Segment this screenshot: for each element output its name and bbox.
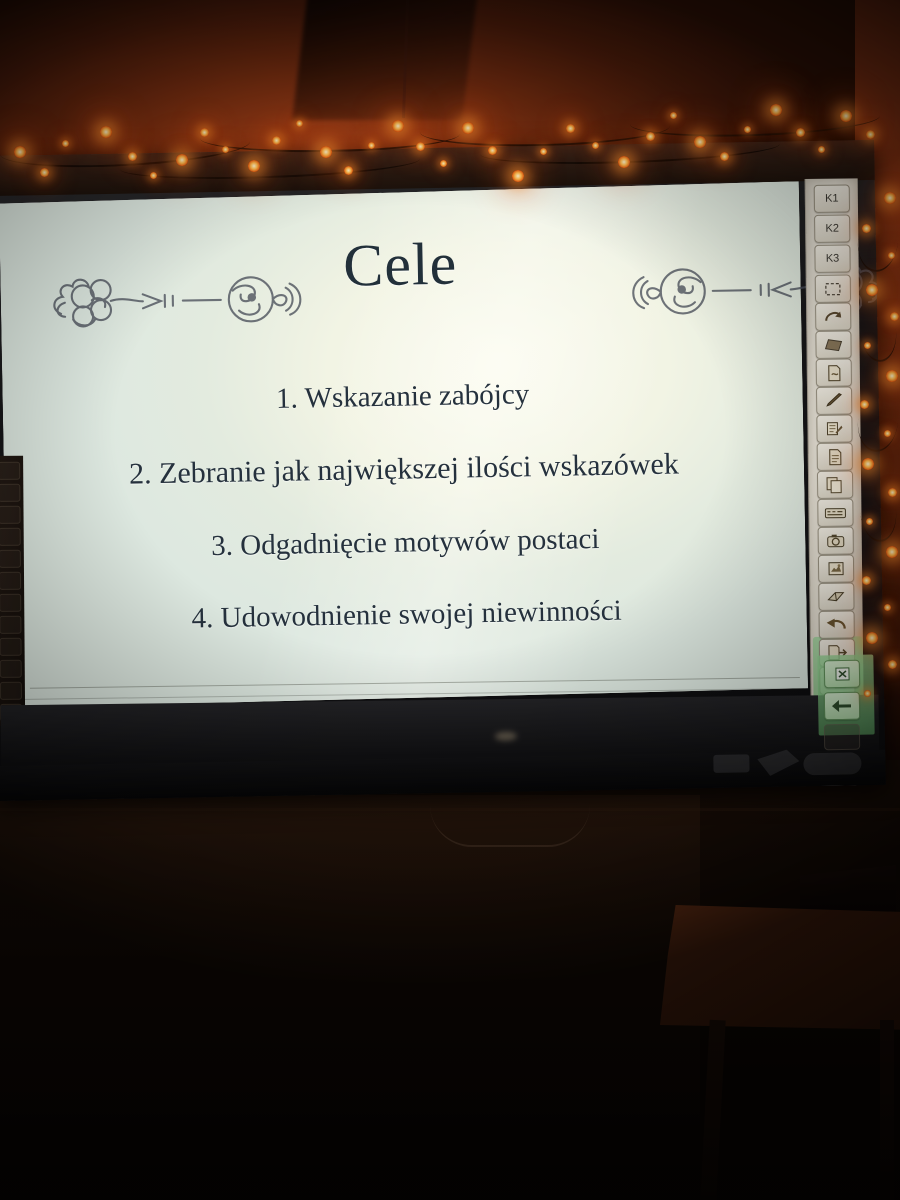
- camera-icon[interactable]: [818, 526, 854, 554]
- floor-cable: [430, 805, 590, 847]
- left-toolbar-button[interactable]: [0, 616, 21, 634]
- left-toolbar-button[interactable]: [0, 572, 21, 590]
- slide-bullet-list: 1. Wskazanie zabójcy 2. Zebranie jak naj…: [2, 371, 807, 676]
- wall-panel: [0, 795, 700, 1125]
- left-toolbar-button[interactable]: [0, 462, 20, 480]
- undo-arrow-icon[interactable]: [819, 610, 855, 638]
- ceiling-shadow: [292, 0, 478, 120]
- notes-edit-icon[interactable]: [816, 414, 852, 442]
- screen-capture-icon[interactable]: [818, 554, 854, 582]
- stylus-holder[interactable]: [803, 752, 861, 775]
- document-icon[interactable]: [817, 442, 853, 470]
- floral-filigree-ornament-left: [42, 265, 303, 340]
- left-toolbar-button[interactable]: [0, 682, 22, 700]
- desk-leg-right: [880, 1020, 894, 1200]
- left-toolbar-button[interactable]: [0, 660, 22, 678]
- list-item: 1. Wskazanie zabójcy: [2, 371, 803, 422]
- wooden-desk: [660, 905, 900, 1030]
- left-toolbar-button[interactable]: [0, 484, 20, 502]
- left-toolbar-strip[interactable]: [0, 456, 25, 726]
- shape-fill-icon[interactable]: [815, 330, 851, 358]
- left-toolbar-button[interactable]: [0, 638, 22, 656]
- back-arrow-icon[interactable]: [824, 692, 860, 721]
- document-copy-icon[interactable]: [817, 470, 853, 498]
- k2-preset-button[interactable]: K2: [814, 214, 850, 242]
- interactive-whiteboard[interactable]: Cele: [0, 140, 886, 801]
- keyboard-icon[interactable]: [817, 498, 853, 526]
- k1-preset-button[interactable]: K1: [814, 184, 850, 212]
- eraser-icon[interactable]: [818, 582, 854, 610]
- page-corner-icon[interactable]: [816, 358, 852, 386]
- close-x-icon[interactable]: [824, 660, 860, 689]
- pen-icon[interactable]: [816, 386, 852, 414]
- toolbar-extra-button[interactable]: [824, 724, 860, 751]
- left-toolbar-button[interactable]: [0, 594, 21, 612]
- eraser-block[interactable]: [713, 754, 749, 773]
- k3-preset-button[interactable]: K3: [814, 244, 850, 272]
- list-item: 3. Odgadnięcie motywów postaci: [5, 517, 806, 568]
- redo-arrow-icon[interactable]: [815, 302, 851, 330]
- list-item: 2. Zebranie jak największej ilości wskaz…: [4, 443, 805, 495]
- presentation-slide: Cele: [0, 181, 808, 708]
- list-item: 4. Udowodnienie swojej niewinności: [6, 589, 807, 640]
- classroom-scene: Cele: [0, 0, 900, 1200]
- whiteboard-side-toolbar[interactable]: K1 K2 K3: [805, 178, 864, 727]
- select-rectangle-icon[interactable]: [815, 274, 851, 302]
- left-toolbar-button[interactable]: [0, 528, 21, 546]
- left-toolbar-button[interactable]: [0, 506, 21, 524]
- left-toolbar-button[interactable]: [0, 550, 21, 568]
